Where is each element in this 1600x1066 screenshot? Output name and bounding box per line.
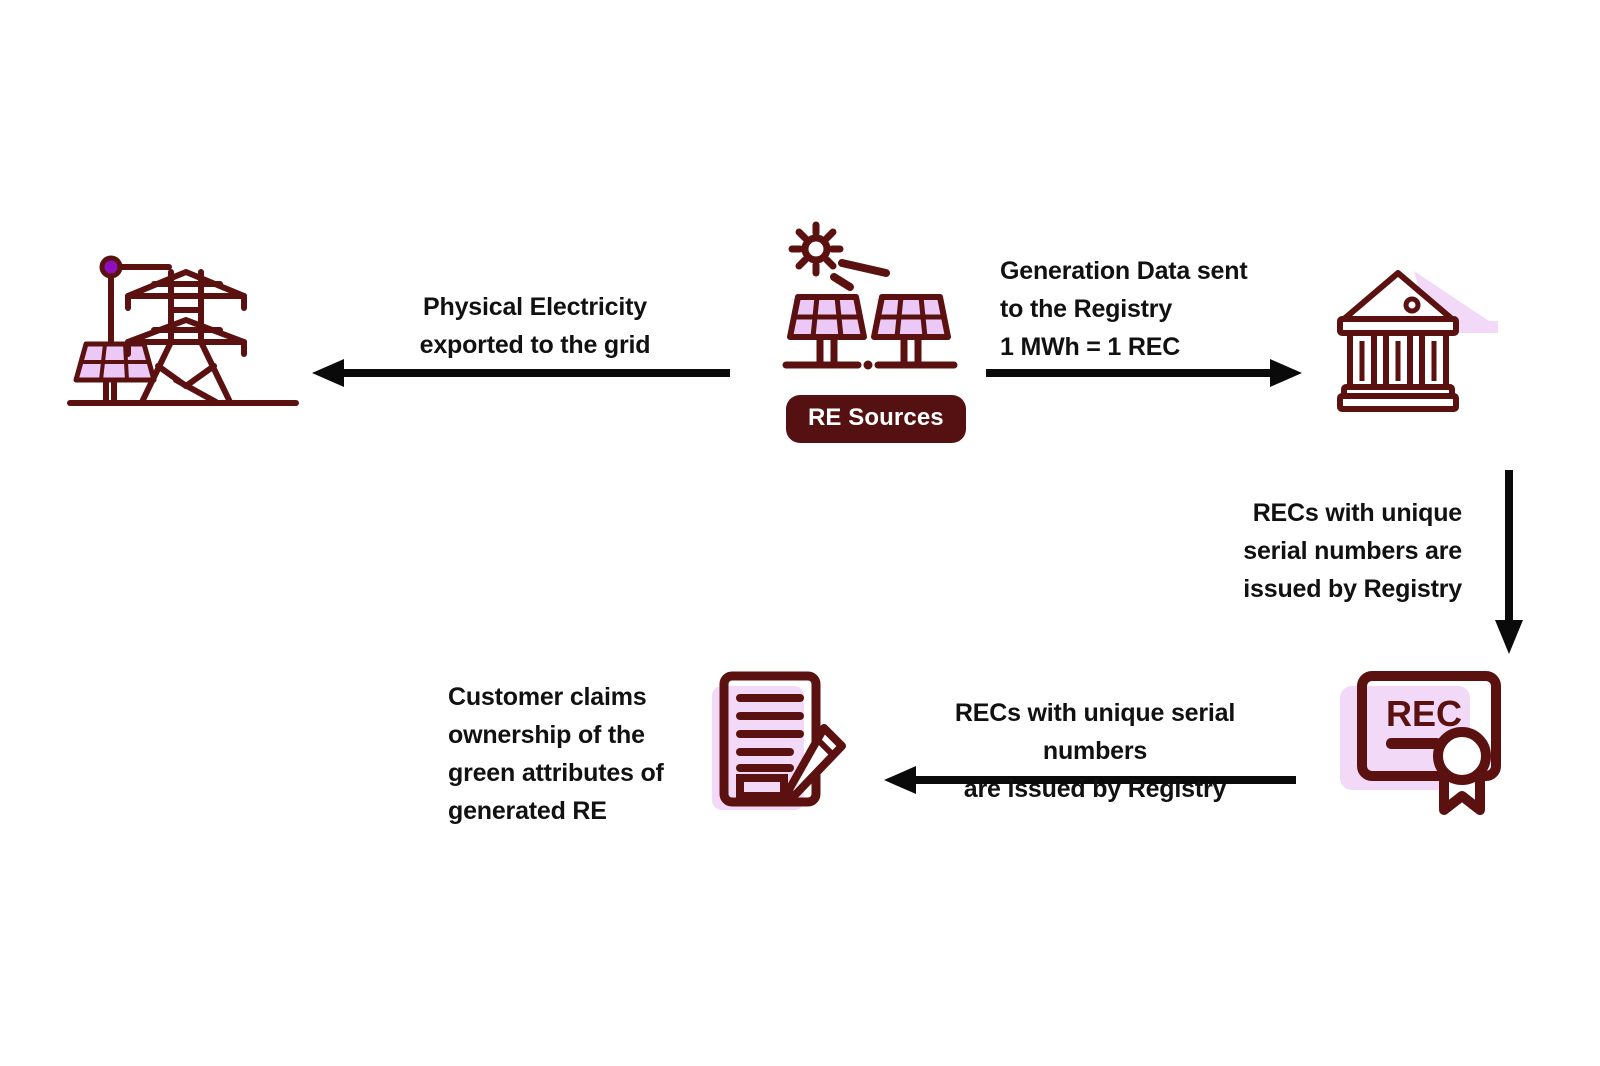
seal-icon xyxy=(1438,732,1486,780)
edge-rec-issued-label: RECs with unique serial numbers are issu… xyxy=(1200,494,1462,608)
ground-dot xyxy=(864,361,873,370)
pediment-circle xyxy=(1406,299,1418,311)
rec-certificate-icon: REC xyxy=(1340,672,1508,812)
re-sources-icon xyxy=(778,225,958,385)
registry-icon xyxy=(1340,265,1510,415)
certificate-icon: REC xyxy=(1340,672,1508,812)
grid-infrastructure-icon xyxy=(70,250,310,420)
edge-physical-electricity-label: Physical Electricity exported to the gri… xyxy=(390,288,680,364)
solar-panel-right-icon xyxy=(874,297,948,363)
lamp-dot-icon xyxy=(102,258,120,276)
document-with-pencil-icon xyxy=(712,672,842,817)
transmission-tower-and-solar-panel-icon xyxy=(70,250,310,420)
customer-document-icon xyxy=(712,672,842,817)
edge-generation-data-label: Generation Data sent to the Registry 1 M… xyxy=(1000,252,1300,366)
re-sources-badge: RE Sources xyxy=(786,395,966,443)
sun-icon xyxy=(792,225,840,273)
solar-panels-with-sun-icon xyxy=(778,225,958,385)
customer-claim-text: Customer claims ownership of the green a… xyxy=(448,678,704,830)
solar-panel-small-icon xyxy=(76,344,154,402)
bank-building-icon xyxy=(1340,265,1510,415)
diagram-canvas: Physical Electricity exported to the gri… xyxy=(0,0,1600,1066)
rec-certificate-text: REC xyxy=(1386,693,1462,734)
arrow-down-rec-issued xyxy=(1494,470,1524,654)
solar-panel-left-icon xyxy=(790,297,864,363)
edge-rec-transferred-label: RECs with unique serial numbers are issu… xyxy=(900,694,1290,808)
sun-ray-icon xyxy=(834,263,886,287)
